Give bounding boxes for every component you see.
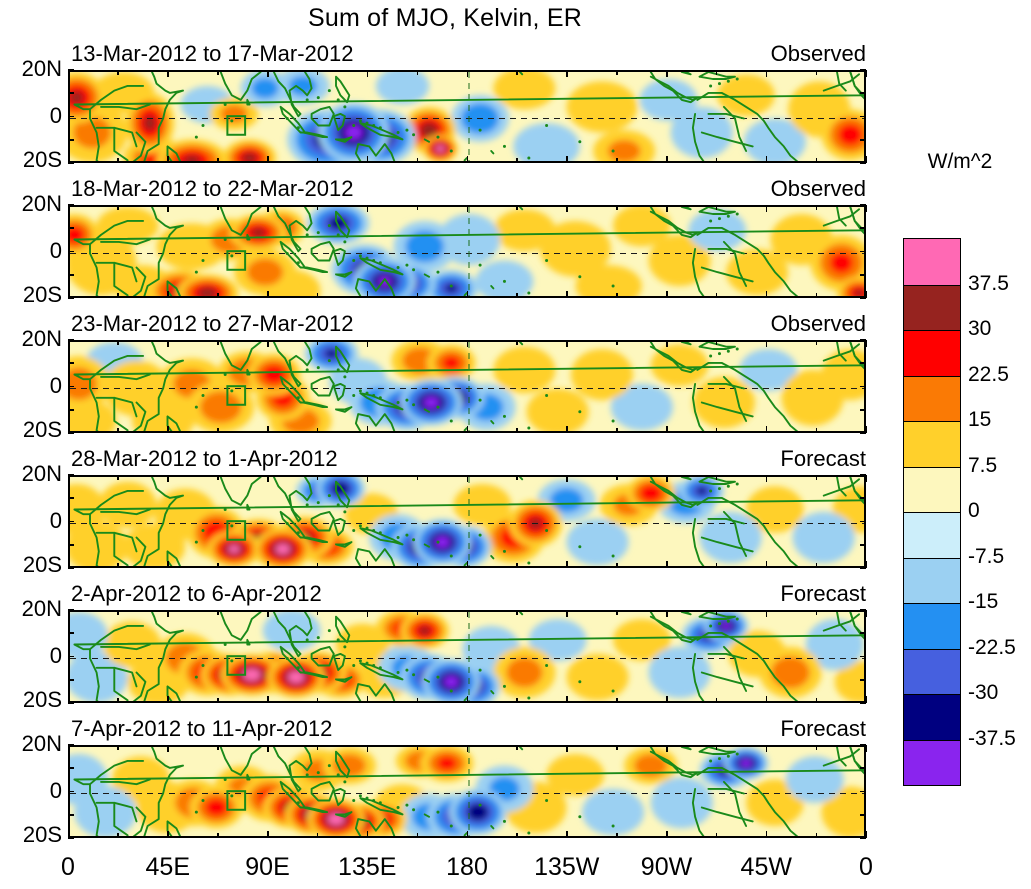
y-tick-label: 20S [23,687,62,713]
colorbar-band-divider [904,376,960,377]
x-minor-tick [417,563,418,568]
y-tick-mark [860,544,866,546]
map-panel-3: 23-Mar-2012 to 27-Mar-2012Observed20N020… [68,340,866,433]
x-minor-tick [616,293,617,298]
x-tick-mark [566,291,568,298]
x-tick-mark [367,745,369,752]
x-minor-tick [117,158,118,163]
x-minor-tick [516,698,517,703]
y-tick-mark [68,69,74,71]
x-tick-mark [267,340,269,347]
x-tick-mark [68,745,70,752]
map-panel-1: 13-Mar-2012 to 17-Mar-2012Observed20N020… [68,70,866,163]
x-tick-mark [267,610,269,617]
map-panel-6: 7-Apr-2012 to 11-Apr-2012Forecast20N020S [68,745,866,838]
colorbar-tick-label: -37.5 [968,727,1016,751]
x-tick-mark [267,156,269,163]
x-minor-tick [616,475,617,480]
x-minor-tick [516,70,517,75]
x-tick-mark [367,70,369,77]
y-axis-labels: 20N020S [0,205,62,298]
x-tick-mark [566,70,568,77]
colorbar-band [904,603,960,649]
x-minor-tick [417,475,418,480]
x-tick-label: 135W [534,853,599,882]
x-tick-mark [467,561,469,568]
x-minor-tick [117,205,118,210]
x-minor-tick [217,205,218,210]
y-axis-labels: 20N020S [0,610,62,703]
x-minor-tick [816,610,817,615]
x-tick-mark [167,340,169,347]
colorbar-tick-label: 37.5 [968,272,1009,296]
x-tick-mark [766,291,768,298]
x-minor-tick [516,428,517,433]
y-axis-labels: 20N020S [0,340,62,433]
y-tick-mark [68,567,74,569]
y-tick-label: 0 [50,373,62,399]
y-tick-mark [68,362,74,364]
y-tick-label: 0 [50,238,62,264]
x-tick-label: 45W [741,853,792,882]
panel-map [70,612,866,703]
colorbar-band [904,467,960,513]
x-minor-tick [716,293,717,298]
y-tick-mark [860,139,866,141]
x-minor-tick [417,610,418,615]
x-minor-tick [217,70,218,75]
panel-kind-label: Observed [771,41,866,67]
y-tick-mark [68,744,74,746]
x-tick-mark [566,340,568,347]
x-tick-mark [467,745,469,752]
panel-date-label: 7-Apr-2012 to 11-Apr-2012 [71,716,332,742]
y-tick-label: 0 [50,643,62,669]
x-minor-tick [616,698,617,703]
colorbar-band-divider [904,603,960,604]
y-tick-mark [68,204,74,206]
x-tick-mark [766,610,768,617]
y-tick-mark [860,251,866,253]
x-minor-tick [217,698,218,703]
x-minor-tick [317,158,318,163]
x-tick-mark [467,340,469,347]
y-tick-mark [68,386,74,388]
x-tick-mark [367,340,369,347]
x-minor-tick [516,475,517,480]
x-minor-tick [117,745,118,750]
x-minor-tick [716,205,717,210]
panel-frame [68,745,866,838]
colorbar-tick-label: -7.5 [968,545,1004,569]
x-tick-mark [766,745,768,752]
y-tick-mark [860,297,866,299]
x-tick-mark [467,291,469,298]
x-tick-mark [766,561,768,568]
x-tick-mark [467,156,469,163]
page-title: Sum of MJO, Kelvin, ER [0,4,890,33]
colorbar-band-divider [904,467,960,468]
y-tick-label: 0 [50,778,62,804]
colorbar-band [904,649,960,695]
x-minor-tick [217,340,218,345]
x-minor-tick [616,610,617,615]
y-axis-labels: 20N020S [0,475,62,568]
x-minor-tick [317,428,318,433]
y-tick-label: 0 [50,508,62,534]
x-minor-tick [716,340,717,345]
x-minor-tick [816,698,817,703]
x-tick-mark [167,475,169,482]
x-minor-tick [716,158,717,163]
x-tick-mark [566,156,568,163]
y-tick-label: 20S [23,552,62,578]
colorbar [903,238,961,786]
panel-kind-label: Observed [771,311,866,337]
x-tick-mark [267,696,269,703]
colorbar-tick-label: -22.5 [968,636,1016,660]
y-tick-mark [860,339,866,341]
x-tick-mark [367,475,369,482]
x-tick-mark [666,610,668,617]
x-minor-tick [816,475,817,480]
colorbar-band-divider [904,285,960,286]
x-minor-tick [117,563,118,568]
x-minor-tick [417,428,418,433]
panel-date-label: 2-Apr-2012 to 6-Apr-2012 [71,581,322,607]
panel-map [70,747,866,838]
y-tick-mark [860,204,866,206]
x-tick-mark [367,205,369,212]
y-tick-mark [68,632,74,634]
x-tick-mark [666,745,668,752]
y-tick-mark [68,227,74,229]
y-tick-mark [860,679,866,681]
y-tick-mark [860,744,866,746]
x-tick-mark [68,610,70,617]
y-tick-mark [860,409,866,411]
colorbar-band-divider [904,421,960,422]
panel-date-label: 18-Mar-2012 to 22-Mar-2012 [71,176,353,202]
x-minor-tick [716,475,717,480]
x-tick-mark [367,426,369,433]
x-minor-tick [217,428,218,433]
y-tick-mark [68,702,74,704]
x-tick-label: 45E [146,853,190,882]
x-tick-mark [566,205,568,212]
panel-frame [68,475,866,568]
x-minor-tick [816,745,817,750]
x-minor-tick [816,563,817,568]
x-minor-tick [317,563,318,568]
x-tick-mark [68,205,70,212]
colorbar-band [904,239,960,285]
panel-date-label: 13-Mar-2012 to 17-Mar-2012 [71,41,353,67]
x-minor-tick [616,158,617,163]
colorbar-tick-label: 22.5 [968,363,1009,387]
x-minor-tick [716,563,717,568]
y-tick-mark [860,162,866,164]
y-tick-mark [860,362,866,364]
y-tick-mark [68,679,74,681]
colorbar-band-divider [904,558,960,559]
x-minor-tick [616,205,617,210]
x-minor-tick [317,610,318,615]
colorbar-tick-label: -30 [968,681,998,705]
y-tick-mark [68,656,74,658]
x-minor-tick [117,340,118,345]
y-tick-mark [860,702,866,704]
colorbar-band [904,330,960,376]
y-tick-mark [860,814,866,816]
x-tick-mark [367,610,369,617]
x-tick-label: 135E [338,853,396,882]
x-minor-tick [217,745,218,750]
y-tick-mark [860,609,866,611]
y-tick-mark [68,92,74,94]
x-tick-label: 90E [245,853,289,882]
figure-root: Sum of MJO, Kelvin, ER 13-Mar-2012 to 17… [0,0,1031,889]
y-tick-mark [68,339,74,341]
x-tick-label: 0 [61,853,75,882]
x-tick-mark [267,291,269,298]
x-tick-mark [766,205,768,212]
y-tick-mark [68,544,74,546]
x-minor-tick [317,475,318,480]
y-tick-mark [860,521,866,523]
x-tick-mark [566,475,568,482]
y-tick-mark [68,474,74,476]
x-minor-tick [816,205,817,210]
y-tick-mark [860,69,866,71]
y-tick-mark [68,409,74,411]
x-axis: 045E90E135E180135W90W45W0 [68,835,866,885]
x-tick-mark [167,696,169,703]
x-tick-mark [566,696,568,703]
x-tick-mark [866,610,868,617]
colorbar-band [904,694,960,740]
x-tick-mark [467,475,469,482]
x-tick-mark [566,561,568,568]
colorbar-band-divider [904,740,960,741]
panel-date-label: 28-Mar-2012 to 1-Apr-2012 [71,446,338,472]
y-tick-mark [68,767,74,769]
x-tick-mark [666,205,668,212]
y-tick-label: 20S [23,147,62,173]
x-minor-tick [816,340,817,345]
x-tick-mark [167,156,169,163]
x-minor-tick [616,745,617,750]
panel-frame [68,340,866,433]
colorbar-band-divider [904,694,960,695]
y-tick-mark [860,791,866,793]
y-tick-mark [860,432,866,434]
x-minor-tick [217,158,218,163]
y-tick-mark [68,162,74,164]
y-tick-mark [860,274,866,276]
x-tick-mark [467,70,469,77]
x-minor-tick [816,158,817,163]
x-tick-mark [666,156,668,163]
x-minor-tick [117,698,118,703]
panel-kind-label: Forecast [780,446,866,472]
x-minor-tick [117,610,118,615]
colorbar-band [904,740,960,786]
x-minor-tick [616,428,617,433]
x-minor-tick [716,698,717,703]
x-tick-mark [766,426,768,433]
x-minor-tick [117,293,118,298]
x-minor-tick [516,610,517,615]
x-tick-mark [367,696,369,703]
y-tick-mark [68,251,74,253]
y-tick-mark [860,92,866,94]
panel-frame [68,70,866,163]
x-tick-mark [68,70,70,77]
x-tick-mark [566,745,568,752]
x-minor-tick [516,340,517,345]
x-minor-tick [716,745,717,750]
x-minor-tick [816,428,817,433]
y-tick-label: 20N [22,191,62,217]
x-minor-tick [117,475,118,480]
x-tick-mark [367,561,369,568]
x-tick-mark [866,745,868,752]
x-tick-mark [267,426,269,433]
x-minor-tick [417,340,418,345]
y-tick-mark [68,432,74,434]
x-tick-mark [367,156,369,163]
y-tick-mark [860,767,866,769]
x-minor-tick [317,70,318,75]
panel-kind-label: Forecast [780,716,866,742]
x-tick-mark [68,340,70,347]
x-minor-tick [217,293,218,298]
colorbar-band [904,421,960,467]
y-tick-mark [68,521,74,523]
x-tick-mark [467,610,469,617]
x-minor-tick [317,340,318,345]
x-minor-tick [716,70,717,75]
panel-kind-label: Observed [771,176,866,202]
colorbar-band-divider [904,512,960,513]
x-tick-mark [267,70,269,77]
colorbar-tick-label: -15 [968,590,998,614]
y-tick-label: 20N [22,461,62,487]
x-minor-tick [716,428,717,433]
y-tick-mark [860,497,866,499]
map-panel-4: 28-Mar-2012 to 1-Apr-2012Forecast20N020S [68,475,866,568]
x-minor-tick [616,563,617,568]
x-minor-tick [217,475,218,480]
colorbar-tick-label: 7.5 [968,454,997,478]
x-tick-mark [766,156,768,163]
x-tick-label: 180 [446,853,488,882]
x-minor-tick [117,70,118,75]
y-tick-mark [860,474,866,476]
panel-date-label: 23-Mar-2012 to 27-Mar-2012 [71,311,353,337]
y-tick-mark [68,274,74,276]
x-minor-tick [516,205,517,210]
colorbar-band [904,285,960,331]
x-tick-mark [866,340,868,347]
y-tick-mark [68,297,74,299]
y-tick-mark [68,116,74,118]
x-tick-mark [766,475,768,482]
colorbar-tick-label: 15 [968,408,991,432]
colorbar-units-label: W/m^2 [900,150,1020,174]
y-tick-mark [860,116,866,118]
x-tick-mark [666,475,668,482]
x-tick-mark [167,426,169,433]
colorbar-band-divider [904,330,960,331]
colorbar-band [904,558,960,604]
x-minor-tick [317,205,318,210]
y-tick-label: 20N [22,596,62,622]
colorbar-band-divider [904,649,960,650]
x-tick-mark [666,696,668,703]
x-minor-tick [317,745,318,750]
x-minor-tick [616,340,617,345]
x-tick-mark [666,70,668,77]
x-tick-mark [167,561,169,568]
x-minor-tick [516,745,517,750]
x-minor-tick [716,610,717,615]
colorbar-tick-label: 30 [968,317,991,341]
x-tick-mark [267,205,269,212]
y-tick-label: 20S [23,822,62,848]
x-tick-mark [666,426,668,433]
x-tick-mark [666,291,668,298]
x-tick-mark [467,205,469,212]
y-axis-labels: 20N020S [0,745,62,838]
x-tick-mark [467,426,469,433]
x-minor-tick [417,205,418,210]
x-minor-tick [516,158,517,163]
x-minor-tick [217,563,218,568]
x-tick-mark [766,696,768,703]
y-tick-mark [68,497,74,499]
x-minor-tick [417,745,418,750]
x-tick-mark [167,745,169,752]
x-tick-mark [267,745,269,752]
panel-map [70,207,866,298]
panel-frame [68,205,866,298]
x-tick-mark [866,70,868,77]
y-tick-label: 20N [22,326,62,352]
y-tick-mark [68,139,74,141]
y-tick-mark [68,609,74,611]
y-tick-mark [68,814,74,816]
colorbar-tick-label: 0 [968,499,980,523]
x-tick-label: 90W [641,853,692,882]
x-tick-mark [68,475,70,482]
x-tick-mark [167,610,169,617]
x-minor-tick [816,70,817,75]
x-tick-label: 0 [859,853,873,882]
x-tick-mark [167,291,169,298]
x-tick-mark [167,70,169,77]
panel-frame [68,610,866,703]
x-tick-mark [666,340,668,347]
x-tick-mark [666,561,668,568]
x-tick-mark [367,291,369,298]
y-tick-mark [860,656,866,658]
x-minor-tick [616,70,617,75]
x-minor-tick [816,293,817,298]
y-tick-mark [860,632,866,634]
x-minor-tick [417,158,418,163]
